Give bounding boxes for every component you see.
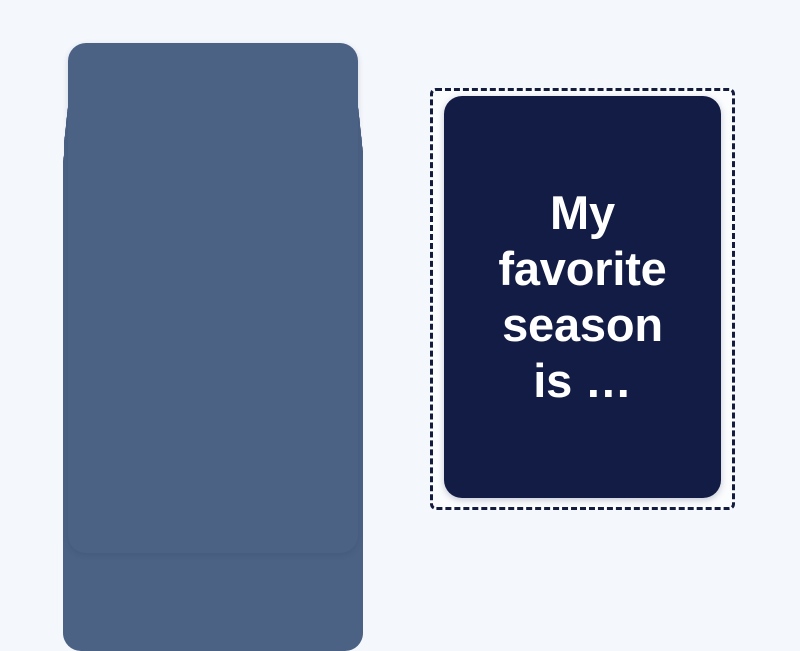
card-game-stage: My favorite season is …	[0, 0, 800, 600]
prompt-card-text: My favorite season is …	[498, 185, 666, 409]
card-deck[interactable]	[62, 43, 362, 555]
prompt-card[interactable]: My favorite season is …	[444, 96, 721, 498]
deck-top-card[interactable]	[68, 43, 358, 448]
